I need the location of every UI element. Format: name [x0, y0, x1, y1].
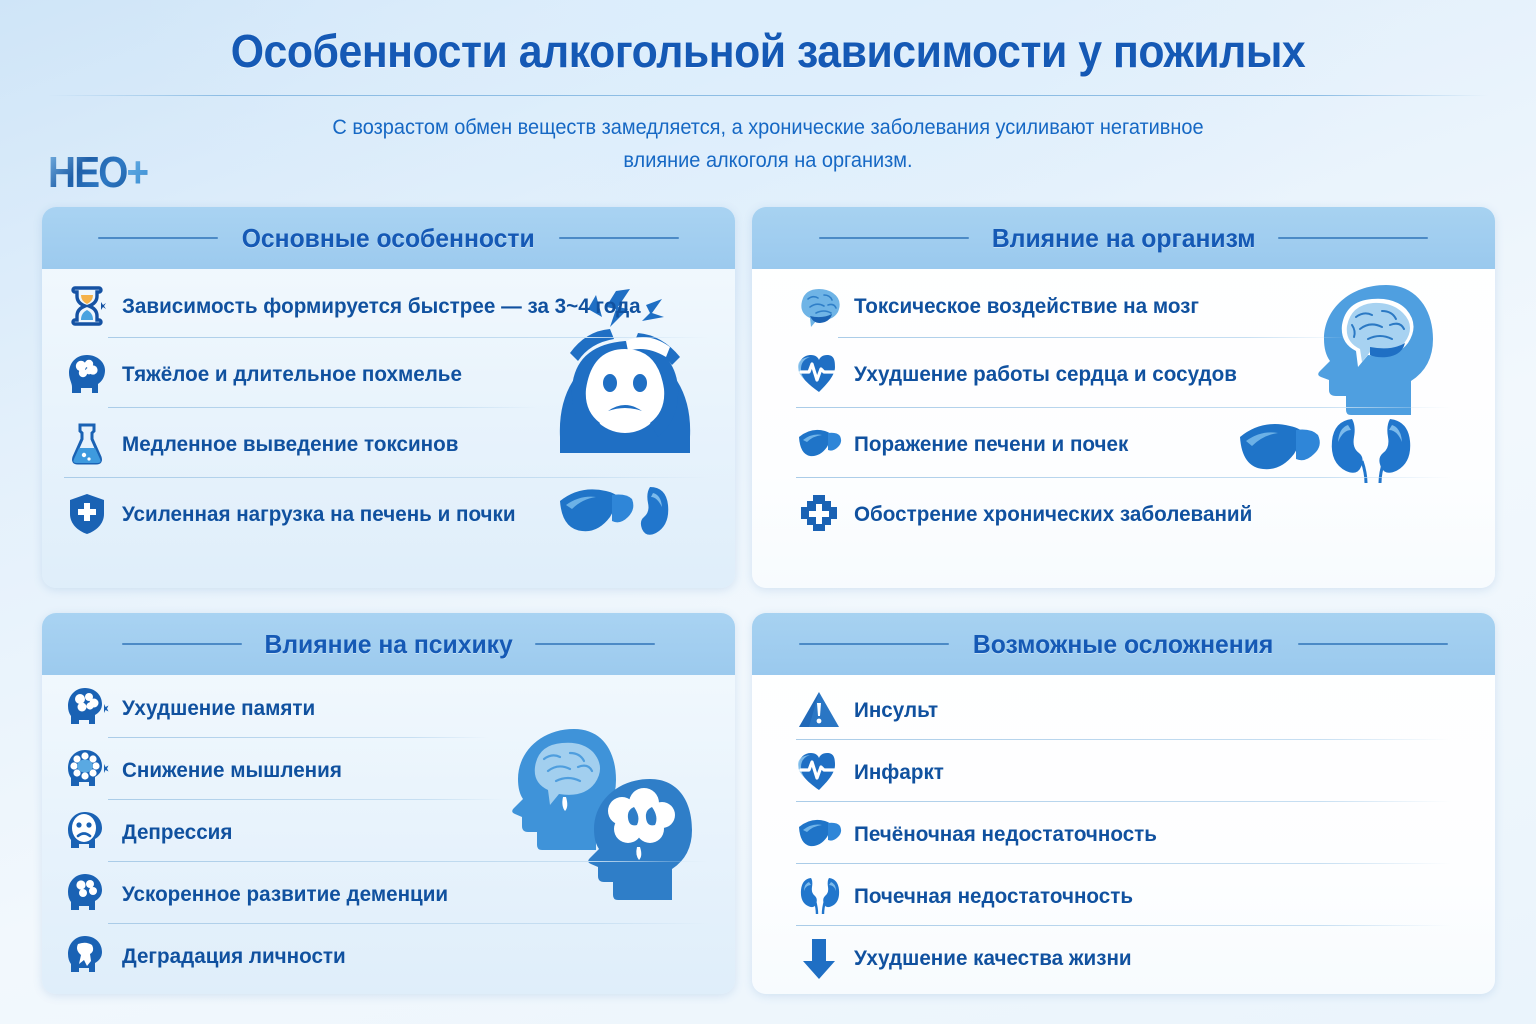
heart-pulse-icon: [796, 351, 842, 397]
header-rule-right: [535, 643, 655, 645]
feature-text: Поражение печени и почек: [854, 432, 1128, 457]
feature-row: Зависимость формируется быстрее — за 3~4…: [64, 283, 662, 329]
card-title: Возможные осложнения: [973, 629, 1273, 660]
header-rule-right: [1278, 237, 1428, 239]
liver-icon: [796, 421, 842, 467]
feature-row: Тяжёлое и длительное похмелье: [64, 351, 476, 397]
feature-text: Депрессия: [122, 820, 232, 845]
card-body: Зависимость формируется быстрее — за 3~4…: [42, 269, 735, 588]
logo-plus-icon: +: [127, 148, 148, 198]
card-title: Основные особенности: [242, 223, 535, 254]
logo-text: НЕО: [48, 148, 127, 197]
head-sad-icon: [64, 809, 110, 855]
cross-medical-icon: [796, 491, 842, 537]
card-header: Основные особенности: [42, 207, 735, 269]
row-divider: [108, 799, 503, 800]
card-vozmozhnye-oslozhneniya: Возможные осложнения Инсульт: [752, 613, 1495, 994]
header-rule-right: [1298, 643, 1448, 645]
head-thinking-icon: [64, 747, 110, 793]
page-title: Особенности алкогольной зависимости у по…: [54, 24, 1482, 78]
card-body: Ухудшение памяти Снижение мышления: [42, 675, 735, 994]
feature-row: Усиленная нагрузка на печень и почки: [64, 491, 532, 537]
hourglass-icon: [64, 283, 110, 329]
feature-text: Печёночная недостаточность: [854, 822, 1157, 847]
feature-row: Ухудшение качества жизни: [796, 935, 1143, 981]
row-divider: [796, 477, 1451, 478]
row-divider: [796, 801, 1451, 802]
title-divider: [48, 95, 1488, 96]
brain-icon: [796, 283, 842, 329]
kidneys-icon: [796, 873, 842, 919]
feature-row: Поражение печени и почек: [796, 421, 1140, 467]
feature-row: Деградация личности: [64, 933, 355, 979]
feature-row: Депрессия: [64, 809, 237, 855]
card-osnovnye-osobennosti: Основные особенности: [42, 207, 735, 588]
row-divider: [108, 923, 708, 924]
row-divider: [838, 337, 1348, 338]
card-body: Инсульт Инфаркт Печёночная: [752, 675, 1495, 994]
head-dementia-icon: [64, 871, 110, 917]
feature-text: Тяжёлое и длительное похмелье: [122, 362, 462, 387]
row-divider: [796, 739, 1451, 740]
feature-text: Медленное выведение токсинов: [122, 432, 458, 457]
shield-cross-icon: [64, 491, 110, 537]
card-vliyanie-na-psihiku: Влияние на психику: [42, 613, 735, 994]
feature-row: Ускоренное развитие деменции: [64, 871, 462, 917]
row-divider: [796, 863, 1451, 864]
head-with-brain-illustration: [1294, 277, 1464, 427]
down-arrow-icon: [796, 935, 842, 981]
feature-text: Ухудшение работы сердца и сосудов: [854, 362, 1237, 387]
feature-text: Ухудшение памяти: [122, 696, 315, 721]
feature-text: Зависимость формируется быстрее — за 3~4…: [122, 294, 641, 319]
card-title: Влияние на организм: [992, 223, 1256, 254]
row-divider: [108, 737, 488, 738]
header-rule-left: [122, 643, 242, 645]
card-vliyanie-na-organizm: Влияние на организм: [752, 207, 1495, 588]
card-header: Влияние на организм: [752, 207, 1495, 269]
feature-row: Печёночная недостаточность: [796, 811, 1170, 857]
feature-row: Почечная недостаточность: [796, 873, 1145, 919]
feature-text: Инфаркт: [854, 760, 944, 785]
heart-pulse-icon: [796, 749, 842, 795]
warning-triangle-icon: [796, 687, 842, 733]
card-header: Возможные осложнения: [752, 613, 1495, 675]
row-divider: [796, 925, 1451, 926]
head-degradation-icon: [64, 933, 110, 979]
liver-kidney-illustration: [554, 477, 682, 553]
feature-row: Инфаркт: [796, 749, 948, 795]
feature-text: Почечная недостаточность: [854, 884, 1133, 909]
card-header: Влияние на психику: [42, 613, 735, 675]
feature-text: Ухудшение качества жизни: [854, 946, 1132, 971]
feature-text: Инсульт: [854, 698, 938, 723]
header-rule-right: [559, 237, 679, 239]
feature-row: Инсульт: [796, 687, 942, 733]
header-rule-left: [799, 643, 949, 645]
row-divider: [108, 861, 708, 862]
liver-icon: [796, 811, 842, 857]
header-rule-left: [819, 237, 969, 239]
feature-text: Усиленная нагрузка на печень и почки: [122, 502, 516, 527]
card-body: Токсическое воздействие на мозг Ухудшени…: [752, 269, 1495, 588]
card-title: Влияние на психику: [264, 629, 512, 660]
two-heads-brain-illustration: [504, 723, 724, 913]
head-hangover-icon: [64, 351, 110, 397]
row-divider: [108, 407, 538, 408]
feature-row: Токсическое воздействие на мозг: [796, 283, 1213, 329]
flask-icon: [64, 421, 110, 467]
head-memory-icon: [64, 685, 110, 731]
feature-row: Снижение мышления: [64, 747, 351, 793]
row-divider: [108, 337, 708, 338]
feature-row: Обострение хронических заболеваний: [796, 491, 1269, 537]
feature-text: Снижение мышления: [122, 758, 342, 783]
feature-text: Токсическое воздействие на мозг: [854, 294, 1199, 319]
feature-row: Медленное выведение токсинов: [64, 421, 472, 467]
neo-plus-logo: НЕО+: [48, 148, 147, 198]
feature-row: Ухудшение памяти: [64, 685, 323, 731]
feature-text: Деградация личности: [122, 944, 346, 969]
feature-text: Обострение хронических заболеваний: [854, 502, 1252, 527]
header-rule-left: [98, 237, 218, 239]
feature-text: Ускоренное развитие деменции: [122, 882, 448, 907]
feature-row: Ухудшение работы сердца и сосудов: [796, 351, 1253, 397]
row-divider: [796, 407, 1451, 408]
page-subtitle: С возрастом обмен веществ замедляется, а…: [293, 112, 1243, 177]
